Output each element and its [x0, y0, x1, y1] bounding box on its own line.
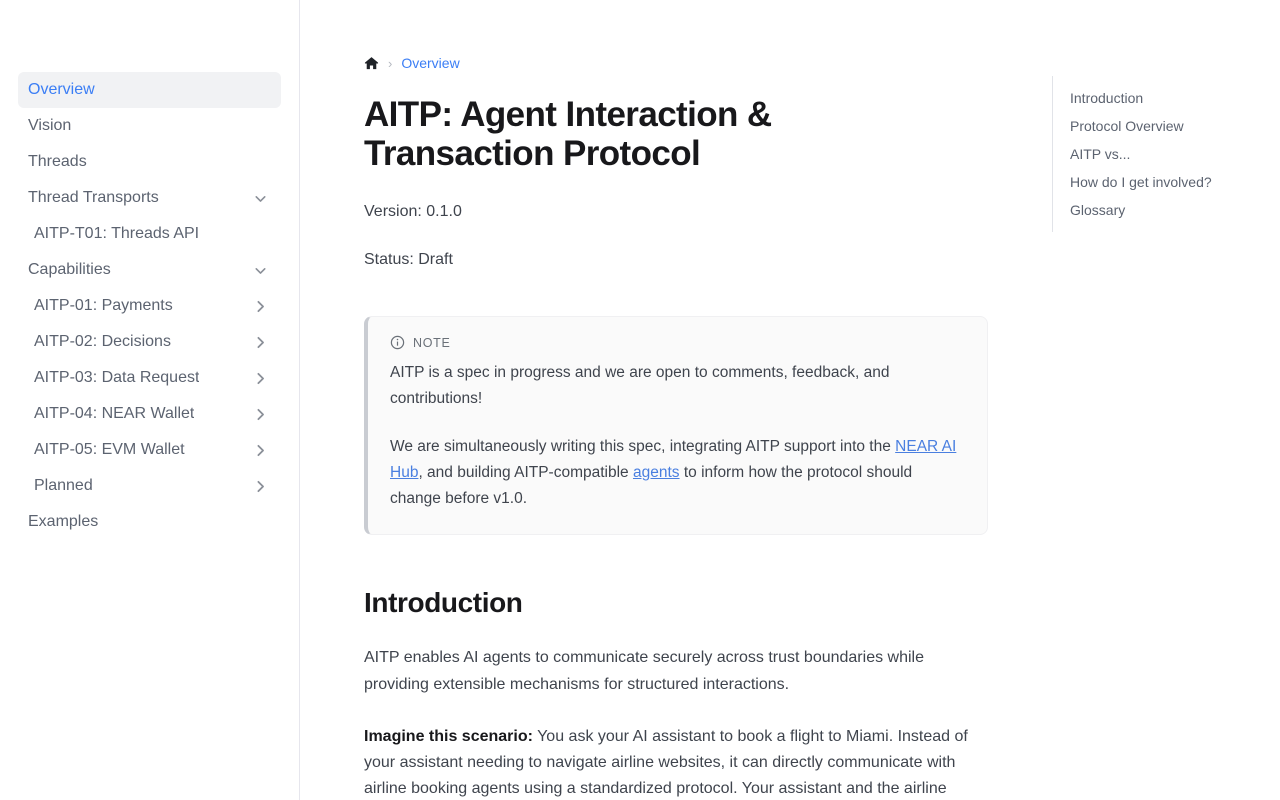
sidebar-item-overview[interactable]: Overview — [18, 72, 281, 108]
status-line: Status: Draft — [364, 247, 988, 273]
sidebar-item-aitp-05-evm-wallet[interactable]: AITP-05: EVM Wallet — [30, 432, 281, 468]
sidebar-item-planned[interactable]: Planned — [30, 468, 281, 504]
table-of-contents: IntroductionProtocol OverviewAITP vs...H… — [1052, 0, 1280, 800]
chevron-right-icon[interactable] — [251, 441, 269, 459]
sidebar-item-label: Threads — [28, 144, 87, 180]
toc-item-introduction[interactable]: Introduction — [1070, 84, 1280, 112]
toc-list: IntroductionProtocol OverviewAITP vs...H… — [1052, 76, 1280, 232]
section-heading-introduction: Introduction — [364, 587, 988, 619]
note-paragraph-1: AITP is a spec in progress and we are op… — [390, 360, 965, 412]
breadcrumb-separator: › — [388, 57, 392, 70]
chevron-right-icon[interactable] — [251, 297, 269, 315]
chevron-down-icon[interactable] — [251, 261, 269, 279]
chevron-right-icon[interactable] — [251, 477, 269, 495]
note-callout: NOTE AITP is a spec in progress and we a… — [364, 316, 988, 535]
sidebar-item-thread-transports[interactable]: Thread Transports — [18, 180, 281, 216]
home-icon[interactable] — [364, 56, 379, 71]
toc-item-protocol-overview[interactable]: Protocol Overview — [1070, 112, 1280, 140]
sidebar-item-label: Overview — [28, 72, 95, 108]
sidebar-item-label: Planned — [34, 468, 93, 504]
sidebar-item-threads[interactable]: Threads — [18, 144, 281, 180]
sidebar-navigation: OverviewVisionThreadsThread TransportsAI… — [0, 0, 300, 800]
documentation-page: OverviewVisionThreadsThread TransportsAI… — [0, 0, 1280, 800]
sidebar-item-label: AITP-03: Data Request — [34, 360, 199, 396]
sidebar-item-capabilities[interactable]: Capabilities — [18, 252, 281, 288]
note-callout-header: NOTE — [390, 335, 965, 350]
scenario-lead: Imagine this scenario: — [364, 728, 533, 745]
sidebar-nav-list: OverviewVisionThreadsThread TransportsAI… — [0, 72, 299, 540]
note-p2-text-2: , and building AITP-compatible — [418, 464, 633, 481]
link-agents[interactable]: agents — [633, 464, 680, 481]
chevron-down-icon[interactable] — [251, 189, 269, 207]
sidebar-item-label: AITP-04: NEAR Wallet — [34, 396, 194, 432]
breadcrumb-item-overview[interactable]: Overview — [401, 55, 459, 71]
note-paragraph-2: We are simultaneously writing this spec,… — [390, 434, 965, 512]
sidebar-item-aitp-t01-threads-api[interactable]: AITP-T01: Threads API — [30, 216, 281, 252]
sidebar-item-label: AITP-05: EVM Wallet — [34, 432, 185, 468]
sidebar-item-aitp-02-decisions[interactable]: AITP-02: Decisions — [30, 324, 281, 360]
sidebar-item-label: AITP-02: Decisions — [34, 324, 171, 360]
scenario-paragraph: Imagine this scenario: You ask your AI a… — [364, 724, 986, 800]
article: › Overview AITP: Agent Interaction & Tra… — [300, 0, 988, 800]
sidebar-item-vision[interactable]: Vision — [18, 108, 281, 144]
sidebar-item-label: Examples — [28, 504, 98, 540]
toc-item-how-do-i-get-involved[interactable]: How do I get involved? — [1070, 168, 1280, 196]
toc-item-aitp-vs[interactable]: AITP vs... — [1070, 140, 1280, 168]
intro-paragraph: AITP enables AI agents to communicate se… — [364, 645, 986, 697]
breadcrumb: › Overview — [364, 52, 988, 74]
note-callout-label: NOTE — [413, 336, 451, 350]
sidebar-item-examples[interactable]: Examples — [18, 504, 281, 540]
sidebar-item-label: Capabilities — [28, 252, 111, 288]
sidebar-item-aitp-01-payments[interactable]: AITP-01: Payments — [30, 288, 281, 324]
page-title: AITP: Agent Interaction & Transaction Pr… — [364, 96, 924, 173]
sidebar-item-label: Thread Transports — [28, 180, 159, 216]
chevron-right-icon[interactable] — [251, 405, 269, 423]
info-circle-icon — [390, 335, 405, 350]
chevron-right-icon[interactable] — [251, 369, 269, 387]
sidebar-item-aitp-04-near-wallet[interactable]: AITP-04: NEAR Wallet — [30, 396, 281, 432]
sidebar-item-label: Vision — [28, 108, 71, 144]
sidebar-item-aitp-03-data-request[interactable]: AITP-03: Data Request — [30, 360, 281, 396]
content-area: › Overview AITP: Agent Interaction & Tra… — [300, 0, 1280, 800]
toc-item-glossary[interactable]: Glossary — [1070, 196, 1280, 224]
sidebar-item-label: AITP-T01: Threads API — [34, 216, 199, 252]
note-p2-text-1: We are simultaneously writing this spec,… — [390, 438, 895, 455]
chevron-right-icon[interactable] — [251, 333, 269, 351]
sidebar-item-label: AITP-01: Payments — [34, 288, 173, 324]
version-line: Version: 0.1.0 — [364, 199, 988, 225]
